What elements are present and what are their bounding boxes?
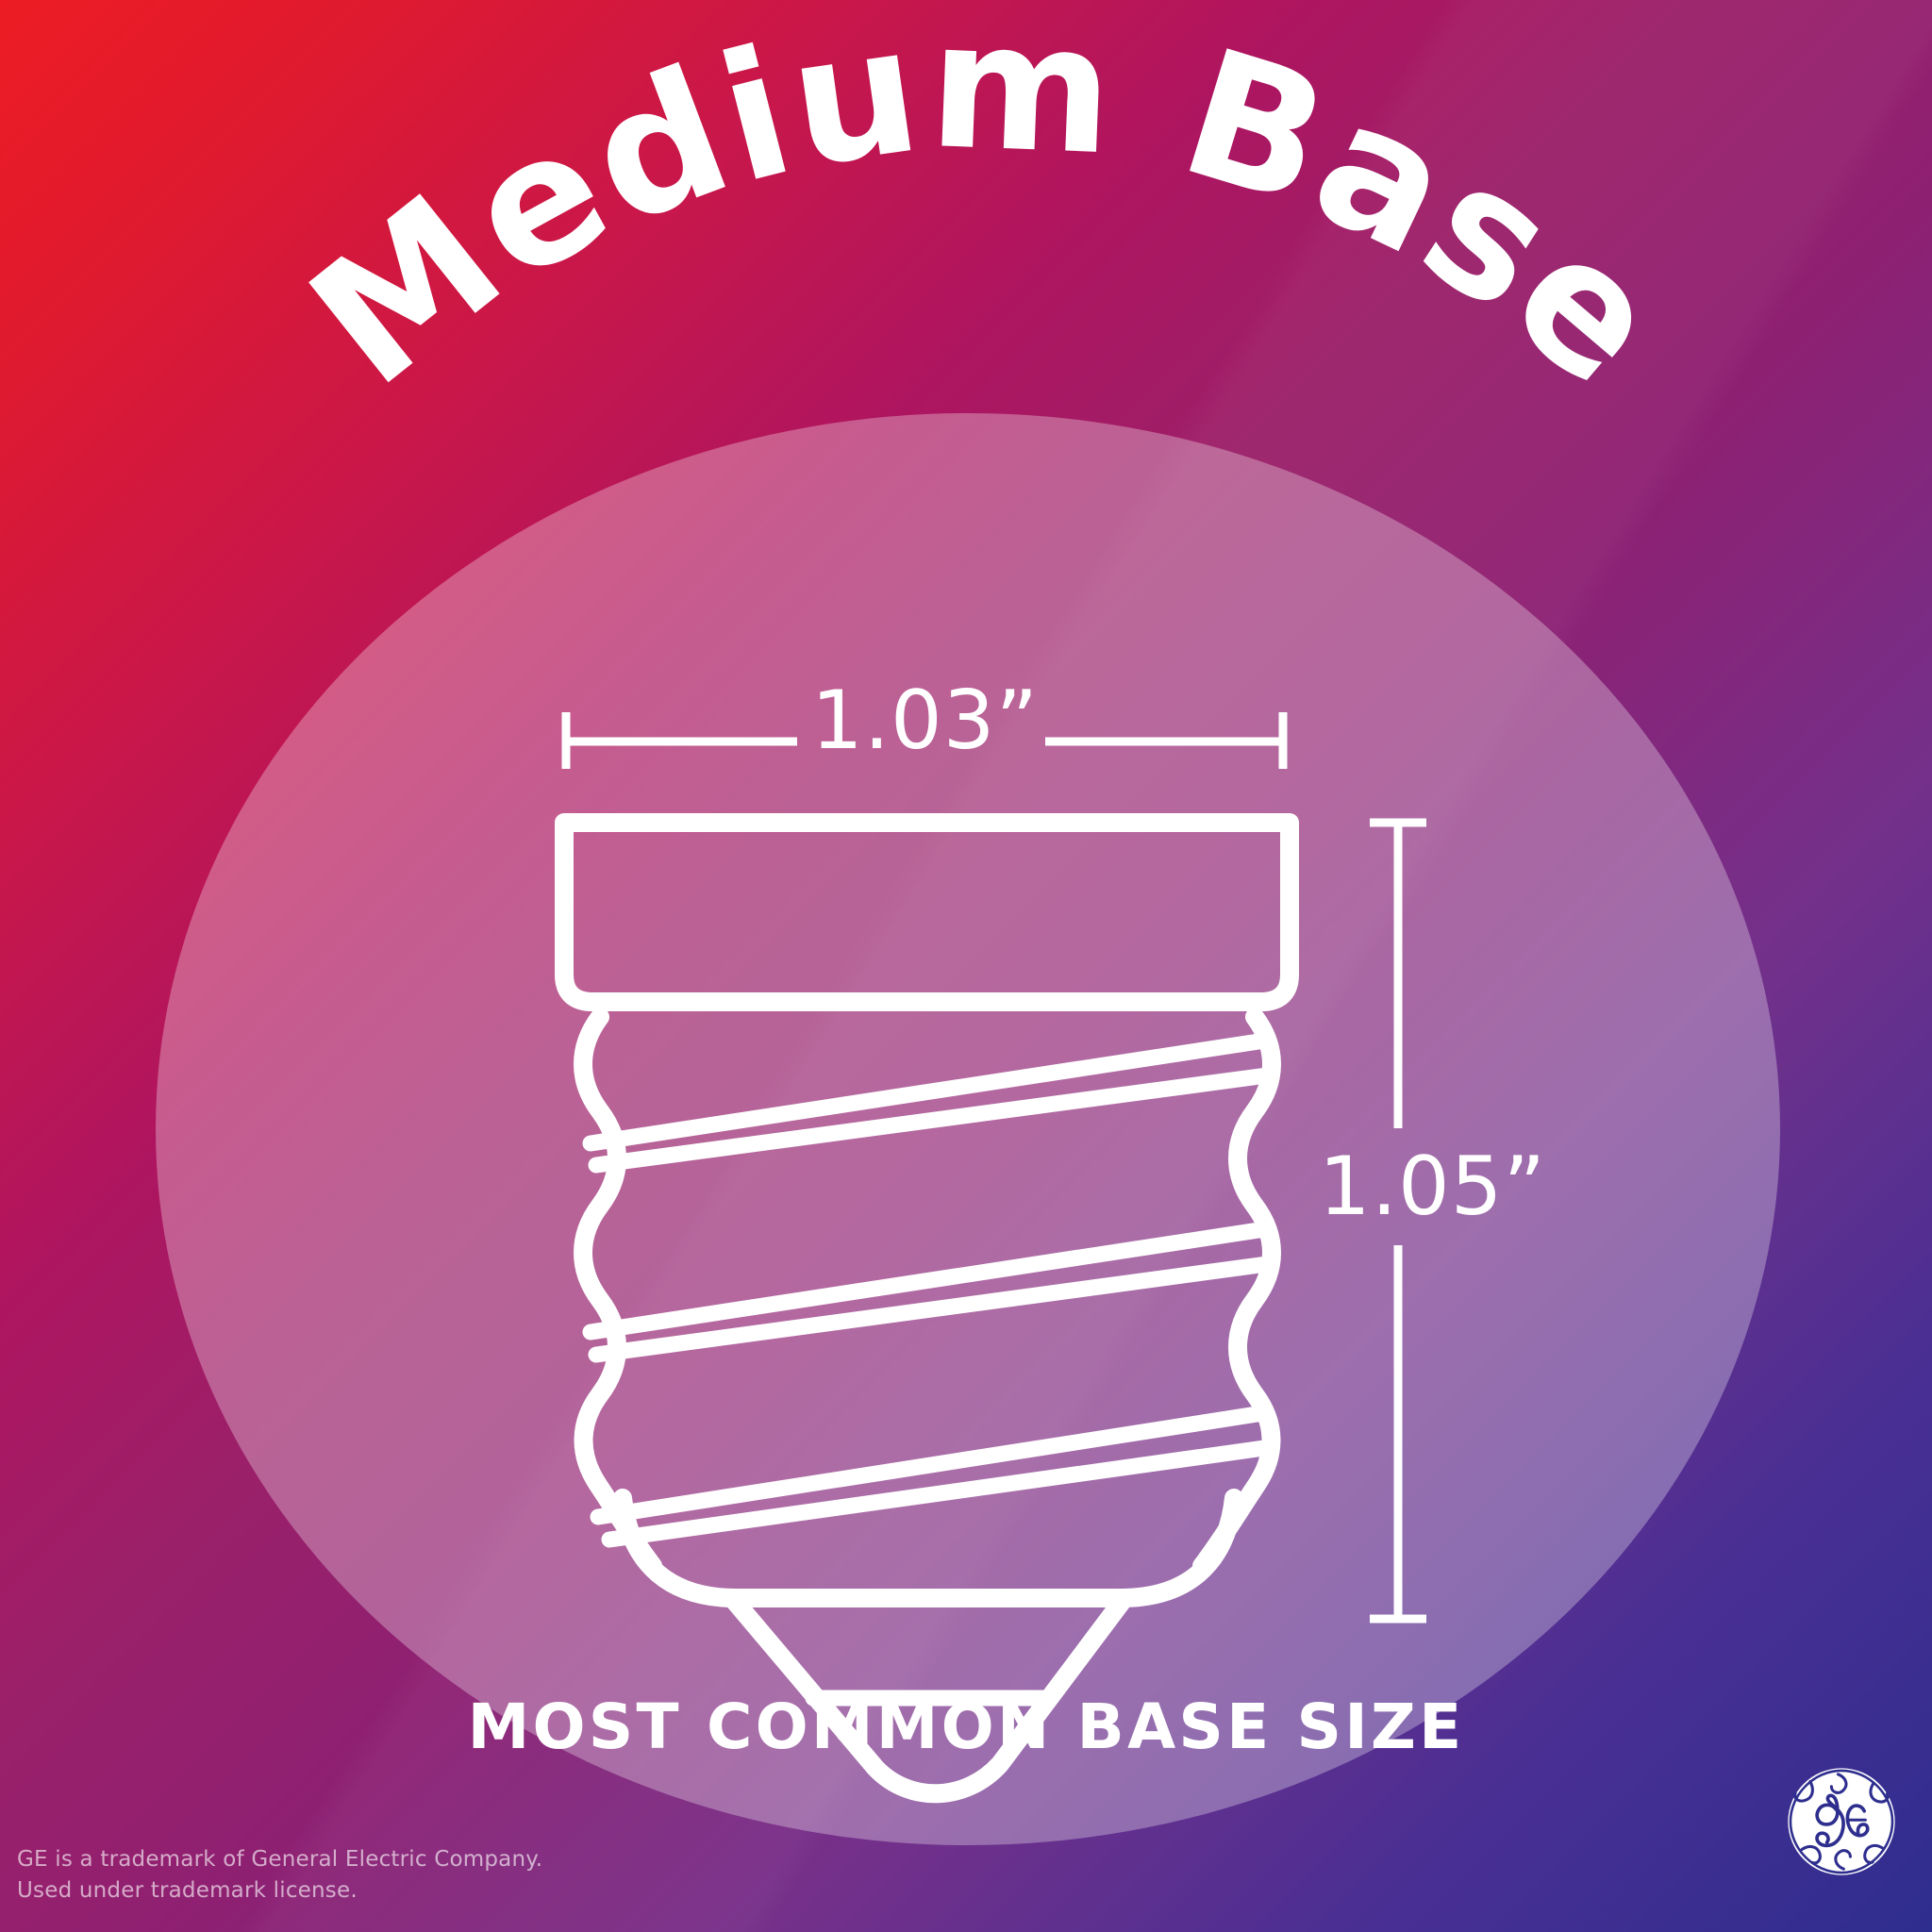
width-dimension-label: 1.03” (811, 674, 1039, 768)
base-top-collar (564, 823, 1290, 1002)
base-left-silhouette (583, 1017, 653, 1566)
base-outline-group (564, 823, 1290, 1793)
ge-circle-icon (1786, 1766, 1897, 1877)
bulb-base-illustration (0, 0, 1932, 1932)
poster-canvas: Medium Base (0, 0, 1932, 1932)
ge-monogram-logo (1786, 1766, 1897, 1877)
height-dimension-label: 1.05” (1319, 1140, 1546, 1234)
legal-disclaimer: GE is a trademark of General Electric Co… (17, 1844, 542, 1906)
legal-line-1: GE is a trademark of General Electric Co… (17, 1844, 542, 1875)
base-right-silhouette (1202, 1017, 1272, 1566)
legal-line-2: Used under trademark license. (17, 1875, 542, 1907)
base-lower-shoulder (623, 1498, 1234, 1598)
caption-text: MOST COMMON BASE SIZE (0, 1690, 1932, 1763)
